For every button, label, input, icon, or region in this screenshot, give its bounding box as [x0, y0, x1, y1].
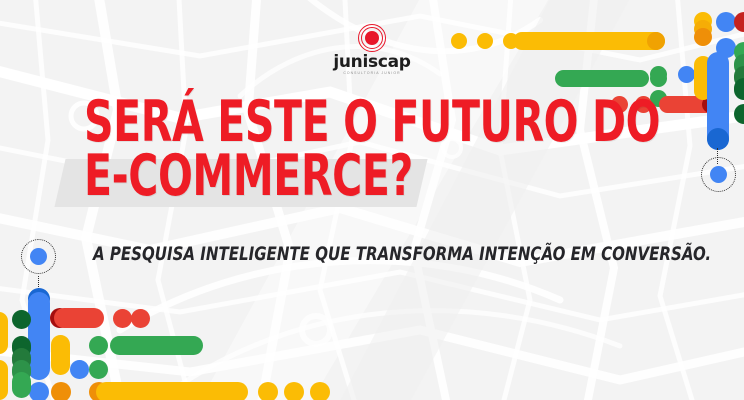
brand-tagline-micro: CONSULTORIA JUNIOR [343, 72, 400, 75]
deco-dot-yellow [258, 382, 278, 400]
deco-dot-blue [29, 382, 49, 400]
subheadline: A PESQUISA INTELIGENTE QUE TRANSFORMA IN… [93, 243, 711, 265]
deco-dot-yellow [310, 382, 330, 400]
deco-dot-red [131, 309, 150, 328]
deco-bar-red [54, 308, 104, 328]
map-pin-dot-bottom-left [30, 248, 47, 265]
deco-bar-yellow-vertical [0, 360, 8, 400]
deco-dot-red [113, 309, 132, 328]
deco-dot-green [89, 360, 108, 379]
deco-dot-green-dark [12, 310, 31, 329]
bullseye-target-icon [358, 24, 386, 52]
deco-bar-yellow-vertical [51, 335, 70, 375]
deco-bar-green [110, 336, 203, 355]
deco-dot-yellow [284, 382, 304, 400]
deco-bar-yellow [96, 382, 248, 400]
deco-dot-blue [70, 360, 89, 379]
deco-bar-yellow-vertical [0, 312, 8, 354]
banner-canvas: juniscap CONSULTORIA JUNIOR SERÁ ESTE O … [0, 0, 744, 400]
brand-name: juniscap [333, 54, 410, 71]
deco-cap-yellow-dark [51, 382, 71, 400]
headline-line-2: E-COMMERCE? [84, 150, 660, 202]
deco-stack-green [12, 372, 31, 398]
brand-logo: juniscap CONSULTORIA JUNIOR [0, 24, 744, 75]
headline-block: SERÁ ESTE O FUTURO DO E-COMMERCE? [84, 96, 744, 203]
headline-line-1: SERÁ ESTE O FUTURO DO [84, 96, 660, 148]
deco-dot-green [89, 336, 108, 355]
deco-bar-blue-vertical [28, 292, 50, 380]
